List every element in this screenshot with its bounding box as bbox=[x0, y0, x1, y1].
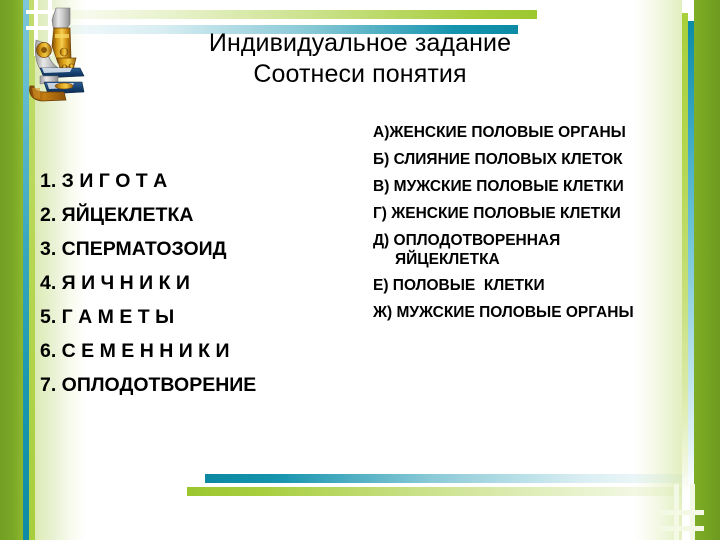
title-line-1: Индивидуальное задание bbox=[130, 28, 590, 59]
list-item: В) МУЖСКИЕ ПОЛОВЫЕ КЛЕТКИ bbox=[373, 178, 635, 197]
bottom-accent-bar-teal bbox=[205, 474, 683, 483]
list-item: Г) ЖЕНСКИЕ ПОЛОВЫЕ КЛЕТКИ bbox=[373, 205, 635, 224]
list-item: 3. СПЕРМАТОЗОИД bbox=[40, 240, 360, 260]
slide-canvas: Индивидуальное задание Соотнеси понятия … bbox=[0, 0, 720, 540]
right-edge-fade bbox=[634, 0, 682, 540]
crosshatch-bottom-right-icon bbox=[660, 484, 704, 540]
list-item: Е) ПОЛОВЫЕ КЛЕТКИ bbox=[373, 277, 635, 296]
right-edge-green-band bbox=[694, 0, 720, 540]
list-item: 6. С Е М Е Н Н И К И bbox=[40, 342, 360, 362]
list-item: 4. Я И Ч Н И К И bbox=[40, 274, 360, 294]
list-item: Ж) МУЖСКИЕ ПОЛОВЫЕ ОРГАНЫ bbox=[373, 304, 635, 323]
list-item: 1. З И Г О Т А bbox=[40, 172, 360, 192]
title-line-2: Соотнеси понятия bbox=[130, 59, 590, 90]
definitions-list: А)ЖЕНСКИЕ ПОЛОВЫЕ ОРГАНЫ Б) СЛИЯНИЕ ПОЛО… bbox=[373, 124, 635, 331]
list-item: 2. ЯЙЦЕКЛЕТКА bbox=[40, 206, 360, 226]
list-item: 5. Г А М Е Т Ы bbox=[40, 308, 360, 328]
right-edge-teal-line bbox=[688, 21, 694, 491]
list-item: Д) ОПЛОДОТВОРЕННАЯ ЯЙЦЕКЛЕТКА bbox=[373, 232, 635, 270]
right-edge-lime-line bbox=[682, 13, 688, 493]
list-item: А)ЖЕНСКИЕ ПОЛОВЫЕ ОРГАНЫ bbox=[373, 124, 635, 143]
top-accent-bar-green bbox=[60, 10, 537, 19]
list-item: 7. ОПЛОДОТВОРЕНИЕ bbox=[40, 376, 360, 396]
slide-title: Индивидуальное задание Соотнеси понятия bbox=[130, 28, 590, 89]
bottom-accent-bar-green bbox=[187, 487, 683, 496]
list-item: Б) СЛИЯНИЕ ПОЛОВЫХ КЛЕТОК bbox=[373, 151, 635, 170]
terms-list: 1. З И Г О Т А 2. ЯЙЦЕКЛЕТКА 3. СПЕРМАТО… bbox=[40, 172, 360, 410]
microscope-icon bbox=[14, 6, 92, 104]
